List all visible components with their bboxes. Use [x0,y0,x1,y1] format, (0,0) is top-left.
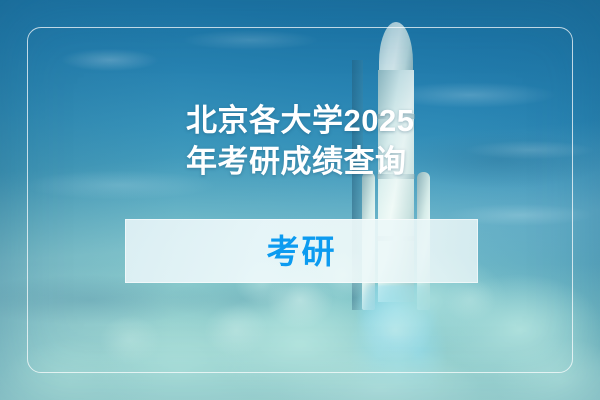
vignette-overlay [0,0,600,400]
cta-panel[interactable]: 考研 [125,219,478,283]
cta-label: 考研 [267,235,337,268]
promo-banner: 北京各大学2025 年考研成绩查询 考研 [0,0,600,400]
banner-title: 北京各大学2025 年考研成绩查询 [186,100,486,182]
